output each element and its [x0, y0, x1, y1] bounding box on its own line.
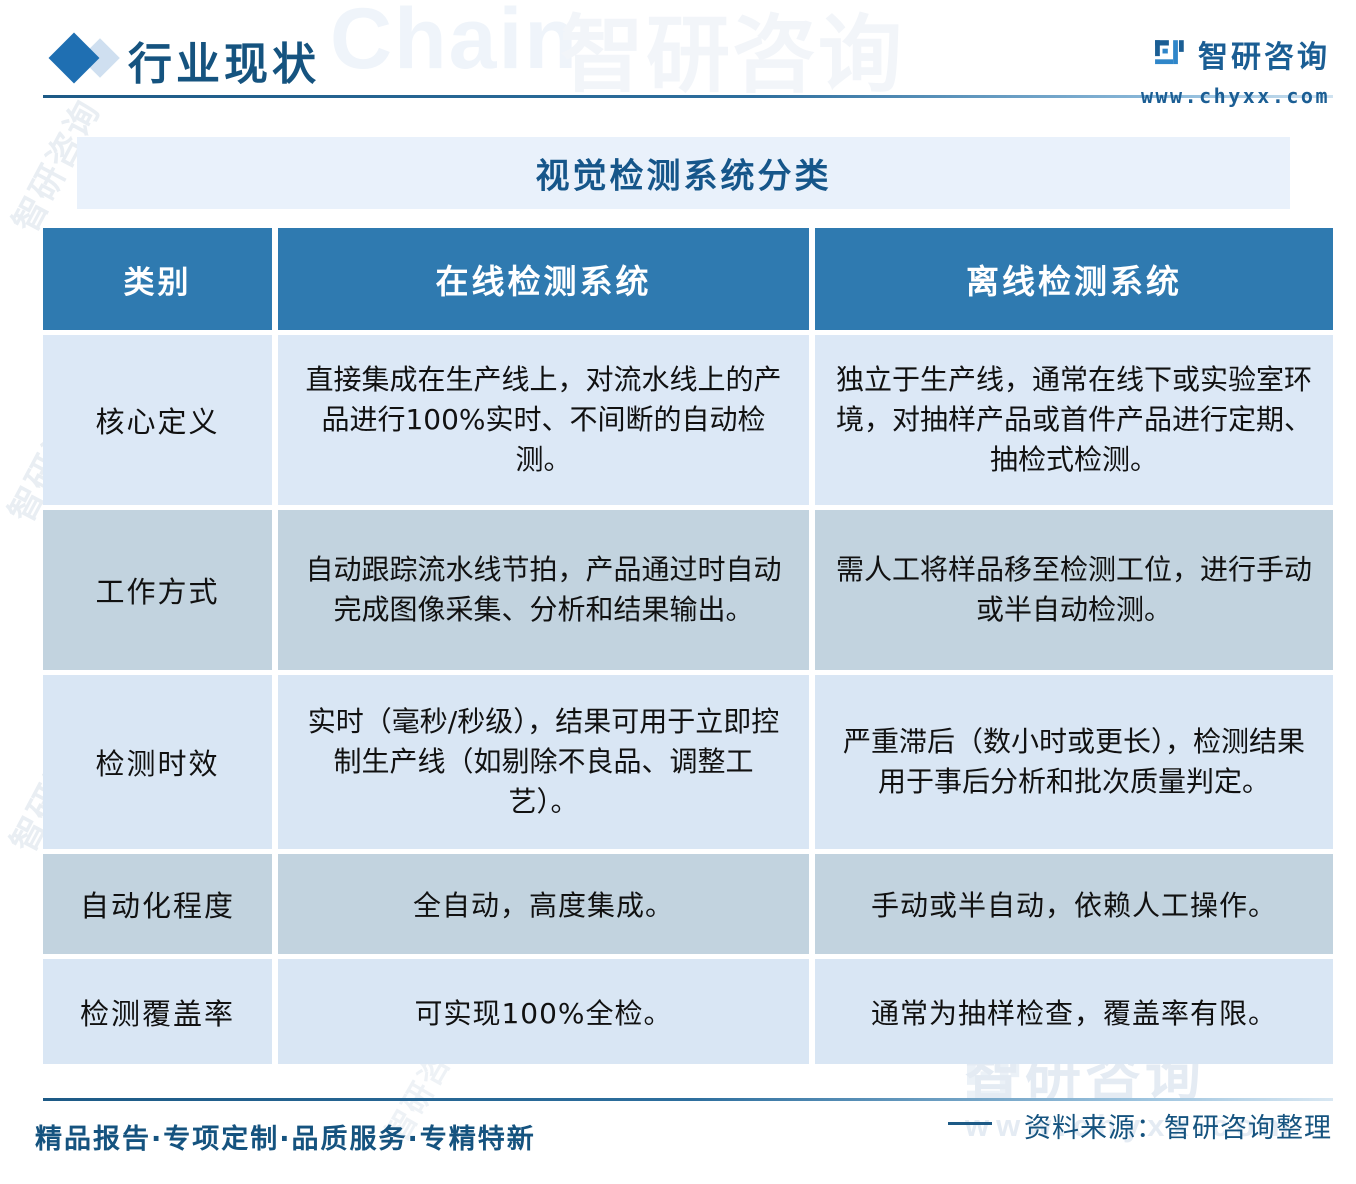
- footer-source: 资料来源：智研咨询整理: [1024, 1106, 1332, 1145]
- brand-url: www.chyxx.com: [1141, 84, 1330, 108]
- chart-title-band: 视觉检测系统分类: [77, 137, 1290, 209]
- footer-slogan: 精品报告·专项定制·品质服务·专精特新: [35, 1117, 536, 1156]
- row-label: 核心定义: [43, 335, 272, 505]
- row-offline-value: 严重滞后（数小时或更长），检测结果用于事后分析和批次质量判定。: [815, 675, 1333, 849]
- diamond-icon: [49, 33, 100, 84]
- row-label: 自动化程度: [43, 854, 272, 954]
- chart-title: 视觉检测系统分类: [77, 149, 1290, 198]
- row-online-value: 直接集成在生产线上，对流水线上的产品进行100%实时、不间断的自动检测。: [278, 335, 809, 505]
- row-online-value: 全自动，高度集成。: [278, 854, 809, 954]
- zhiyan-logo-icon: [1154, 38, 1188, 70]
- row-offline-value: 手动或半自动，依赖人工操作。: [815, 854, 1333, 954]
- row-label: 检测时效: [43, 675, 272, 849]
- row-label: 检测覆盖率: [43, 959, 272, 1064]
- table-row: 工作方式 自动跟踪流水线节拍，产品通过时自动完成图像采集、分析和结果输出。 需人…: [43, 510, 1333, 670]
- row-offline-value: 通常为抽样检查，覆盖率有限。: [815, 959, 1333, 1064]
- page-header: 行业现状 智研咨询 www.chyxx.com: [0, 0, 1356, 110]
- table-row: 检测覆盖率 可实现100%全检。 通常为抽样检查，覆盖率有限。: [43, 959, 1333, 1064]
- table-row: 核心定义 直接集成在生产线上，对流水线上的产品进行100%实时、不间断的自动检测…: [43, 335, 1333, 505]
- row-offline-value: 独立于生产线，通常在线下或实验室环境，对抽样产品或首件产品进行定期、抽检式检测。: [815, 335, 1333, 505]
- table-row: 自动化程度 全自动，高度集成。 手动或半自动，依赖人工操作。: [43, 854, 1333, 954]
- comparison-table: 类别 在线检测系统 离线检测系统 核心定义 直接集成在生产线上，对流水线上的产品…: [43, 228, 1333, 1064]
- row-label: 工作方式: [43, 510, 272, 670]
- source-dash: [948, 1122, 992, 1125]
- row-online-value: 自动跟踪流水线节拍，产品通过时自动完成图像采集、分析和结果输出。: [278, 510, 809, 670]
- row-online-value: 实时（毫秒/秒级），结果可用于立即控制生产线（如剔除不良品、调整工艺）。: [278, 675, 809, 849]
- row-offline-value: 需人工将样品移至检测工位，进行手动或半自动检测。: [815, 510, 1333, 670]
- footer-divider: [43, 1098, 1333, 1101]
- page-title: 行业现状: [128, 28, 320, 92]
- table-header-offline: 离线检测系统: [815, 228, 1333, 330]
- table-header-online: 在线检测系统: [278, 228, 809, 330]
- table-row: 检测时效 实时（毫秒/秒级），结果可用于立即控制生产线（如剔除不良品、调整工艺）…: [43, 675, 1333, 849]
- brand-name: 智研咨询: [1198, 32, 1330, 76]
- brand-block: 智研咨询 www.chyxx.com: [1141, 32, 1330, 108]
- table-header-category: 类别: [43, 228, 272, 330]
- table-header-row: 类别 在线检测系统 离线检测系统: [43, 228, 1333, 330]
- header-divider: [43, 95, 1333, 98]
- row-online-value: 可实现100%全检。: [278, 959, 809, 1064]
